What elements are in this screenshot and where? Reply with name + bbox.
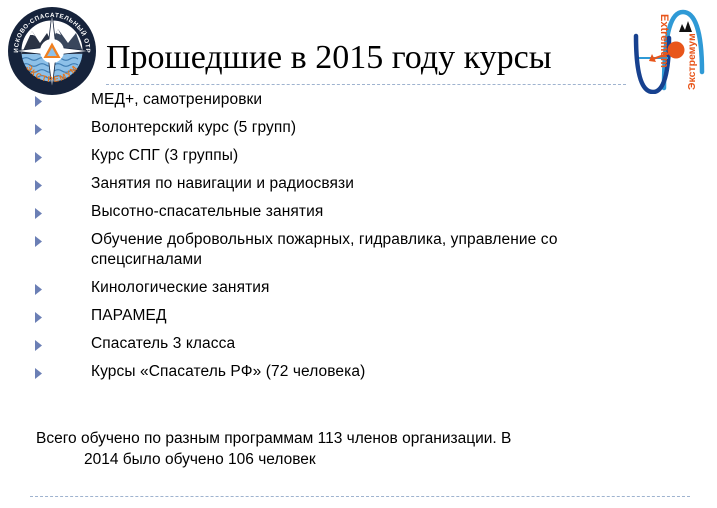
list-item: Занятия по навигации и радиосвязи: [34, 174, 694, 194]
svg-text:Extremum: Extremum: [658, 14, 670, 68]
list-item-label: МЕД+, самотренировки: [91, 90, 694, 110]
bullet-triangle-icon: [34, 180, 43, 192]
list-item-label: Волонтерский курс (5 групп): [91, 118, 694, 138]
summary-paragraph: Всего обучено по разным программам 113 ч…: [36, 428, 686, 470]
list-item: Курсы «Спасатель РФ» (72 человека): [34, 362, 694, 382]
list-item-label: Курсы «Спасатель РФ» (72 человека): [91, 362, 694, 382]
list-item-label: Курс СПГ (3 группы): [91, 146, 694, 166]
list-item: Кинологические занятия: [34, 278, 694, 298]
list-item: Волонтерский курс (5 групп): [34, 118, 694, 138]
extremum-brand-logo: Extremum Экстремум: [623, 2, 713, 94]
bullet-triangle-icon: [34, 284, 43, 296]
list-item: ПАРАМЕД: [34, 306, 694, 326]
list-item-label: Спасатель 3 класса: [91, 334, 694, 354]
bullet-triangle-icon: [34, 312, 43, 324]
bullet-triangle-icon: [34, 236, 43, 248]
list-item: Спасатель 3 класса: [34, 334, 694, 354]
bottom-divider: [30, 496, 690, 497]
list-item-label: ПАРАМЕД: [91, 306, 694, 326]
svg-text:Экстремум: Экстремум: [686, 33, 698, 90]
list-item: Обучение добровольных пожарных, гидравли…: [34, 230, 694, 270]
list-item-label: Высотно-спасательные занятия: [91, 202, 694, 222]
list-item-label: Занятия по навигации и радиосвязи: [91, 174, 694, 194]
bullet-triangle-icon: [34, 368, 43, 380]
bullet-triangle-icon: [34, 96, 43, 108]
summary-line-2: 2014 было обучено 106 человек: [36, 449, 686, 470]
list-item-label: Кинологические занятия: [91, 278, 694, 298]
list-item: Высотно-спасательные занятия: [34, 202, 694, 222]
rescue-squad-emblem-logo: ПОИСКОВО-СПАСАТЕЛЬНЫЙ ОТРЯД ЭКСТРЕМУМ: [6, 5, 98, 97]
bullet-triangle-icon: [34, 124, 43, 136]
list-item: Курс СПГ (3 группы): [34, 146, 694, 166]
bullet-triangle-icon: [34, 208, 43, 220]
bullet-triangle-icon: [34, 152, 43, 164]
slide-canvas: ПОИСКОВО-СПАСАТЕЛЬНЫЙ ОТРЯД ЭКСТРЕМУМ Ex…: [0, 0, 717, 508]
title-divider: [106, 84, 626, 85]
bullet-triangle-icon: [34, 340, 43, 352]
list-item: МЕД+, самотренировки: [34, 90, 694, 110]
slide-title: Прошедшие в 2015 году курсы: [106, 36, 626, 82]
course-list: МЕД+, самотренировки Волонтерский курс (…: [34, 90, 694, 390]
list-item-label: Обучение добровольных пожарных, гидравли…: [91, 230, 647, 270]
summary-line-1: Всего обучено по разным программам 113 ч…: [36, 430, 511, 447]
